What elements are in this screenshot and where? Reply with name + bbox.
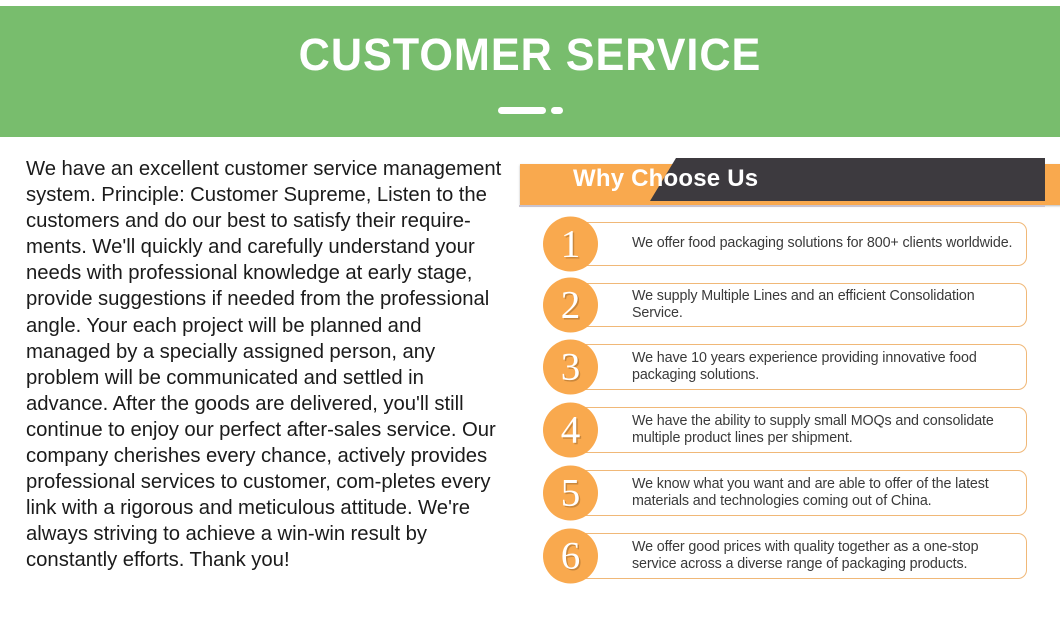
- feature-box: We supply Multiple Lines and an efficien…: [565, 283, 1027, 327]
- feature-item-1: We offer food packaging solutions for 80…: [519, 222, 1045, 266]
- why-choose-us-panel: Why Choose Us We offer food packaging so…: [519, 158, 1045, 596]
- feature-number-badge: 4: [543, 403, 598, 458]
- feature-number-badge: 2: [543, 278, 598, 333]
- feature-item-4: We have the ability to supply small MOQs…: [519, 407, 1045, 453]
- feature-text: We have the ability to supply small MOQs…: [632, 413, 1016, 448]
- feature-number-badge: 5: [543, 466, 598, 521]
- feature-number-badge: 1: [543, 217, 598, 272]
- why-choose-us-banner: Why Choose Us: [519, 158, 1045, 206]
- feature-item-3: We have 10 years experience providing in…: [519, 344, 1045, 390]
- header-divider: [0, 106, 1060, 114]
- divider-bar-long: [498, 107, 546, 114]
- divider-bar-short: [551, 107, 563, 114]
- feature-number-badge: 6: [543, 529, 598, 584]
- customer-service-description: We have an excellent customer service ma…: [26, 156, 504, 574]
- feature-text: We supply Multiple Lines and an efficien…: [632, 288, 1016, 323]
- banner-underline: [519, 205, 1045, 207]
- feature-text: We have 10 years experience providing in…: [632, 350, 1016, 385]
- feature-box: We know what you want and are able to of…: [565, 470, 1027, 516]
- feature-text: We offer food packaging solutions for 80…: [632, 235, 1012, 252]
- feature-number-badge: 3: [543, 340, 598, 395]
- feature-box: We have the ability to supply small MOQs…: [565, 407, 1027, 453]
- feature-text: We offer good prices with quality togeth…: [632, 539, 1016, 574]
- feature-item-5: We know what you want and are able to of…: [519, 470, 1045, 516]
- feature-item-2: We supply Multiple Lines and an efficien…: [519, 283, 1045, 327]
- feature-box: We offer food packaging solutions for 80…: [565, 222, 1027, 266]
- page-header-banner: CUSTOMER SERVICE: [0, 6, 1060, 137]
- feature-text: We know what you want and are able to of…: [632, 476, 1016, 511]
- feature-item-6: We offer good prices with quality togeth…: [519, 533, 1045, 579]
- feature-box: We have 10 years experience providing in…: [565, 344, 1027, 390]
- feature-box: We offer good prices with quality togeth…: [565, 533, 1027, 579]
- feature-list: We offer food packaging solutions for 80…: [519, 222, 1045, 579]
- page-title: CUSTOMER SERVICE: [21, 32, 1039, 77]
- banner-label: Why Choose Us: [573, 165, 758, 193]
- description-paragraph: We have an excellent customer service ma…: [26, 156, 504, 574]
